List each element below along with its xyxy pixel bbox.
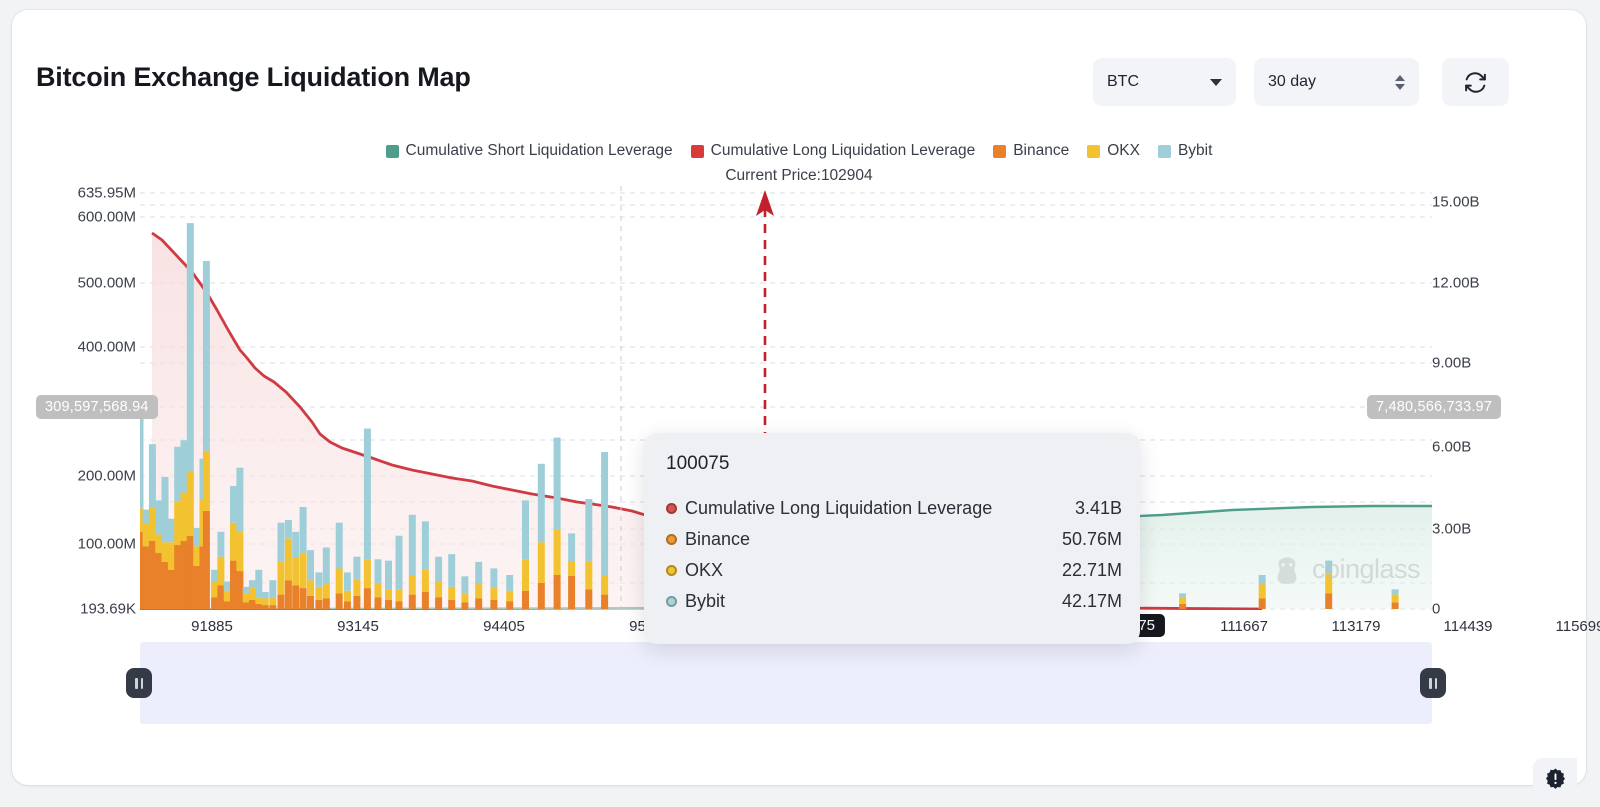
- bar-segment-bybit: [375, 559, 382, 583]
- bar-segment-okx: [601, 575, 608, 595]
- tooltip-row: Cumulative Long Liquidation Leverage 3.4…: [666, 493, 1122, 524]
- bar-segment-binance: [422, 592, 429, 609]
- legend-label: Bybit: [1178, 142, 1212, 160]
- y-axis-right-tick: 0: [1432, 601, 1440, 618]
- bar-segment-binance: [461, 603, 468, 610]
- bar-segment-binance: [149, 541, 156, 609]
- bar-segment-binance: [364, 588, 371, 609]
- bar-segment-bybit: [396, 536, 403, 590]
- bar-segment-bybit: [155, 500, 162, 534]
- bar-segment-okx: [187, 472, 194, 536]
- bar-segment-binance: [278, 595, 285, 609]
- bar-segment-bybit: [249, 580, 256, 588]
- bar-segment-binance: [236, 571, 243, 609]
- current-price-label: Current Price:102904: [12, 167, 1586, 185]
- bar-segment-okx: [243, 593, 250, 602]
- bar-segment-bybit: [409, 515, 416, 575]
- x-axis-tick: 111667: [1220, 618, 1268, 635]
- bar-segment-bybit: [211, 570, 218, 582]
- y-axis-right-marker-badge: 7,480,566,733.97: [1367, 395, 1501, 419]
- y-axis-right-tick: 15.00B: [1432, 194, 1480, 211]
- bar-segment-binance: [490, 600, 497, 609]
- bar-segment-okx: [181, 493, 188, 541]
- bar-segment-bybit: [315, 572, 322, 586]
- bar-segment-okx: [149, 507, 156, 541]
- bar-segment-bybit: [554, 438, 561, 530]
- bar-segment-okx: [409, 575, 416, 595]
- bar-segment-okx: [162, 542, 169, 562]
- coinglass-logo-icon: [1270, 552, 1304, 586]
- legend-swatch: [1158, 145, 1171, 158]
- y-axis-left-tick: 400.00M: [78, 339, 136, 356]
- bar-segment-bybit: [585, 499, 592, 562]
- range-slider[interactable]: [140, 642, 1432, 724]
- bar-segment-bybit: [224, 582, 231, 591]
- bar-segment-okx: [490, 588, 497, 600]
- bar-segment-bybit: [285, 520, 292, 538]
- tooltip-row: OKX 22.71M: [666, 555, 1122, 586]
- bar-segment-binance: [230, 561, 237, 609]
- y-axis-left-tick: 200.00M: [78, 468, 136, 485]
- bar-segment-bybit: [323, 548, 330, 585]
- bar-segment-okx: [323, 584, 330, 598]
- bar-segment-binance: [285, 580, 292, 609]
- bar-segment-okx: [174, 502, 181, 545]
- range-stepper[interactable]: 30 day: [1254, 58, 1419, 106]
- bar-segment-binance: [224, 601, 231, 609]
- bar-segment-okx: [554, 529, 561, 575]
- bar-segment-binance: [568, 576, 575, 609]
- bar-segment-bybit: [344, 572, 351, 590]
- bar-segment-okx: [224, 591, 231, 602]
- bar-segment-binance: [448, 600, 455, 609]
- tooltip-series-name: OKX: [685, 560, 1048, 581]
- bar-segment-bybit: [475, 562, 482, 584]
- bar-segment-binance: [249, 600, 256, 609]
- bar-segment-okx: [315, 587, 322, 600]
- x-axis-tick: 113179: [1332, 618, 1381, 635]
- tooltip-series-name: Cumulative Long Liquidation Leverage: [685, 498, 1061, 519]
- tooltip-dot-icon: [666, 503, 677, 514]
- bar-segment-bybit: [506, 575, 513, 591]
- bar-segment-bybit: [174, 447, 181, 502]
- bar-segment-binance: [255, 604, 262, 609]
- bar-segment-binance: [292, 586, 299, 610]
- bar-segment-binance: [315, 600, 322, 609]
- bar-segment-binance: [181, 541, 188, 609]
- bar-segment-binance: [506, 601, 513, 609]
- bar-segment-bybit: [243, 587, 250, 594]
- x-axis-tick: 93145: [337, 618, 379, 635]
- x-axis-tick: 94405: [483, 618, 525, 635]
- bar-segment-okx: [255, 597, 262, 604]
- bar-segment-okx: [448, 587, 455, 600]
- y-axis-left-tick: 193.69K: [80, 601, 136, 618]
- bar-segment-binance: [601, 595, 608, 609]
- bar-segment-binance: [353, 596, 360, 609]
- bar-segment-bybit: [568, 533, 575, 561]
- bar-segment-binance: [385, 600, 392, 609]
- bar-segment-binance: [168, 570, 175, 609]
- bar-segment-binance: [137, 532, 144, 609]
- stepper-arrows-icon[interactable]: [1395, 75, 1405, 90]
- bar-segment-bybit: [292, 532, 299, 558]
- legend-swatch: [993, 145, 1006, 158]
- tooltip-dot-icon: [666, 534, 677, 545]
- legend-label: Cumulative Short Liquidation Leverage: [406, 142, 673, 160]
- bar-segment-bybit: [255, 570, 262, 598]
- tooltip-series-value: 42.17M: [1048, 591, 1122, 612]
- bar-segment-bybit: [217, 532, 224, 557]
- legend-swatch: [1087, 145, 1100, 158]
- y-axis-right-tick: 3.00B: [1432, 521, 1471, 538]
- bar-segment-okx: [344, 591, 351, 602]
- legend-item-cumulative-long[interactable]: Cumulative Long Liquidation Leverage: [691, 142, 976, 160]
- bar-segment-okx: [211, 582, 218, 598]
- bar-segment-bybit: [203, 261, 210, 451]
- bar-segment-okx: [353, 579, 360, 596]
- bar-segment-binance: [522, 591, 529, 609]
- bar-segment-bybit: [353, 557, 360, 579]
- bar-segment-bybit: [1259, 575, 1266, 584]
- bar-segment-binance: [211, 597, 218, 609]
- bar-segment-binance: [300, 588, 307, 609]
- bar-segment-bybit: [262, 592, 269, 599]
- legend-item-okx[interactable]: OKX: [1087, 142, 1140, 160]
- bar-segment-okx: [203, 451, 210, 511]
- bar-segment-binance: [155, 553, 162, 609]
- bar-segment-bybit: [236, 468, 243, 532]
- bar-segment-bybit: [143, 510, 150, 524]
- bar-segment-binance: [435, 597, 442, 609]
- bar-segment-okx: [262, 599, 269, 606]
- bar-segment-okx: [538, 542, 545, 583]
- legend-label: Binance: [1013, 142, 1069, 160]
- bar-segment-bybit: [300, 507, 307, 553]
- bar-segment-okx: [269, 597, 276, 605]
- bar-segment-okx: [568, 561, 575, 576]
- legend-item-binance[interactable]: Binance: [993, 142, 1069, 160]
- bar-segment-binance: [193, 566, 200, 609]
- legend-label: OKX: [1107, 142, 1140, 160]
- tooltip-series-value: 3.41B: [1061, 498, 1122, 519]
- x-axis-tick: 91885: [191, 618, 233, 635]
- legend-item-cumulative-short[interactable]: Cumulative Short Liquidation Leverage: [386, 142, 673, 160]
- bar-segment-okx: [278, 562, 285, 595]
- y-axis-right-tick: 6.00B: [1432, 439, 1471, 456]
- bar-segment-binance: [585, 589, 592, 609]
- bar-segment-bybit: [307, 550, 314, 580]
- range-stepper-label: 30 day: [1268, 73, 1316, 91]
- bar-segment-bybit: [149, 444, 156, 507]
- bar-segment-okx: [1179, 597, 1186, 604]
- bar-segment-okx: [585, 562, 592, 590]
- bar-segment-binance: [1325, 593, 1332, 609]
- x-axis-tick: 115699: [1556, 618, 1600, 635]
- bar-segment-okx: [230, 523, 237, 561]
- bar-segment-binance: [243, 603, 250, 610]
- bar-segment-okx: [137, 508, 144, 532]
- symbol-select[interactable]: BTC: [1093, 58, 1236, 106]
- bar-segment-okx: [168, 542, 175, 570]
- x-axis-tick: 114439: [1444, 618, 1493, 635]
- bar-segment-okx: [1392, 595, 1399, 603]
- watermark-text: coinglass: [1312, 554, 1420, 585]
- tooltip-dot-icon: [666, 596, 677, 607]
- y-axis-left-marker-badge: 309,597,568.94: [36, 395, 158, 419]
- bar-segment-okx: [385, 589, 392, 600]
- bar-segment-okx: [1259, 584, 1266, 598]
- tooltip-title: 100075: [666, 453, 729, 475]
- bar-segment-binance: [217, 586, 224, 610]
- bar-segment-okx: [193, 546, 200, 566]
- range-slider-handle-left[interactable]: [126, 668, 152, 698]
- bar-segment-okx: [200, 499, 207, 546]
- bar-segment-binance: [269, 605, 276, 609]
- bar-segment-bybit: [490, 568, 497, 588]
- bar-segment-bybit: [162, 477, 169, 542]
- bar-segment-okx: [143, 524, 150, 546]
- bar-segment-okx: [307, 580, 314, 596]
- legend-label: Cumulative Long Liquidation Leverage: [711, 142, 976, 160]
- bar-segment-binance: [323, 599, 330, 610]
- bar-segment-bybit: [461, 576, 468, 593]
- bar-segment-binance: [1392, 603, 1399, 610]
- bar-segment-bybit: [269, 580, 276, 597]
- bar-segment-bybit: [168, 519, 175, 543]
- bar-segment-binance: [409, 595, 416, 609]
- bar-segment-binance: [344, 601, 351, 609]
- alert-badge-icon: [1544, 767, 1567, 790]
- bar-segment-okx: [236, 532, 243, 571]
- bar-segment-binance: [262, 605, 269, 609]
- bar-segment-bybit: [422, 521, 429, 569]
- y-axis-left-tick: 500.00M: [78, 275, 136, 292]
- y-axis-left-tick: 100.00M: [78, 536, 136, 553]
- chevron-down-icon: [1210, 79, 1222, 86]
- bar-segment-binance: [396, 601, 403, 609]
- bar-segment-okx: [435, 582, 442, 598]
- bar-segment-binance: [174, 545, 181, 609]
- bar-segment-bybit: [538, 464, 545, 543]
- bar-segment-binance: [538, 583, 545, 609]
- bar-segment-binance: [336, 593, 343, 609]
- tooltip-series-name: Bybit: [685, 591, 1048, 612]
- bar-segment-binance: [375, 597, 382, 609]
- bar-segment-okx: [396, 589, 403, 601]
- bar-segment-binance: [475, 599, 482, 610]
- bar-segment-okx: [475, 584, 482, 598]
- range-slider-handle-right[interactable]: [1420, 668, 1446, 698]
- legend-item-bybit[interactable]: Bybit: [1158, 142, 1212, 160]
- bar-segment-bybit: [1392, 589, 1399, 594]
- bar-segment-okx: [375, 583, 382, 597]
- tooltip-series-name: Binance: [685, 529, 1048, 550]
- y-axis-right-tick: 12.00B: [1432, 275, 1480, 292]
- bar-segment-bybit: [522, 500, 529, 559]
- liquidation-map-card: Bitcoin Exchange Liquidation Map BTC 30 …: [12, 10, 1586, 785]
- bar-segment-bybit: [181, 440, 188, 492]
- bar-segment-okx: [285, 538, 292, 580]
- bar-segment-okx: [300, 553, 307, 588]
- bar-segment-bybit: [385, 561, 392, 590]
- bar-segment-okx: [336, 568, 343, 593]
- bar-segment-binance: [307, 596, 314, 609]
- bar-segment-bybit: [1179, 593, 1186, 597]
- alert-button[interactable]: [1533, 758, 1577, 798]
- tooltip-row: Binance 50.76M: [666, 524, 1122, 555]
- tooltip-series-value: 50.76M: [1048, 529, 1122, 550]
- tooltip-dot-icon: [666, 565, 677, 576]
- bar-segment-binance: [1259, 599, 1266, 610]
- symbol-select-label: BTC: [1107, 73, 1139, 91]
- tooltip-rows: Cumulative Long Liquidation Leverage 3.4…: [666, 493, 1122, 617]
- bar-segment-okx: [249, 588, 256, 600]
- bar-segment-bybit: [336, 523, 343, 569]
- chart-legend: Cumulative Short Liquidation Leverage Cu…: [12, 142, 1586, 160]
- bar-segment-bybit: [230, 486, 237, 523]
- tooltip-series-value: 22.71M: [1048, 560, 1122, 581]
- bar-segment-okx: [217, 557, 224, 586]
- bar-segment-okx: [155, 534, 162, 552]
- bar-segment-bybit: [448, 554, 455, 587]
- bar-segment-okx: [422, 570, 429, 592]
- bar-segment-bybit: [278, 523, 285, 562]
- y-axis-left-tick: 600.00M: [78, 209, 136, 226]
- bar-segment-bybit: [137, 410, 144, 508]
- coinglass-watermark: coinglass: [1270, 552, 1420, 586]
- bar-segment-bybit: [187, 223, 194, 472]
- bar-segment-bybit: [200, 459, 207, 500]
- bar-segment-binance: [143, 546, 150, 609]
- y-axis-right-tick: 9.00B: [1432, 355, 1471, 372]
- bar-segment-bybit: [193, 528, 200, 546]
- bar-segment-okx: [364, 559, 371, 588]
- legend-swatch: [386, 145, 399, 158]
- bar-segment-okx: [506, 591, 513, 602]
- bar-segment-okx: [461, 593, 468, 602]
- bar-segment-binance: [200, 546, 207, 609]
- bar-segment-binance: [162, 562, 169, 609]
- chart-tooltip: 100075 Cumulative Long Liquidation Lever…: [644, 433, 1140, 644]
- bar-segment-okx: [522, 559, 529, 590]
- legend-swatch: [691, 145, 704, 158]
- bar-segment-bybit: [435, 557, 442, 582]
- bar-segment-binance: [187, 536, 194, 609]
- tooltip-row: Bybit 42.17M: [666, 586, 1122, 617]
- y-axis-left-tick: 635.95M: [78, 185, 136, 202]
- bar-segment-bybit: [364, 429, 371, 560]
- bar-segment-binance: [203, 511, 210, 609]
- bar-segment-binance: [554, 575, 561, 609]
- bar-segment-bybit: [601, 452, 608, 575]
- bar-segment-okx: [292, 558, 299, 586]
- bar-segment-binance: [1179, 604, 1186, 609]
